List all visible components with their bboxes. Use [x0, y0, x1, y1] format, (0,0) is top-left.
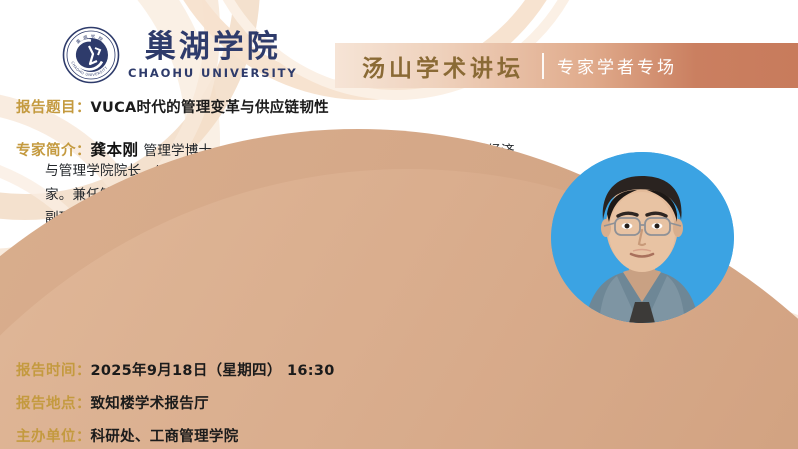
chaohu-university-seal-icon: 巢 湖 学 院 CHAOHU UNIVERSITY: [62, 26, 120, 84]
speaker-bio-first-line: 专家简介 ： 龚本刚 管理学博士，二级教授，博士生导师，现为安徽工程大学经济: [16, 138, 576, 160]
bio-line: 人才、安徽省学术和技术带头人、安徽省教学名师等。近年来，主要从事物: [45, 231, 576, 255]
banner-divider: [542, 53, 544, 79]
bio-line: 与管理学院院长、“安徽汽车产业研究院”省重点培育智库负责人、首席专: [45, 160, 576, 184]
bio-line: 管理学博士，二级教授，博士生导师，现为安徽工程大学经济: [144, 139, 515, 159]
organizer-value: 科研处、工商管理学院: [91, 425, 239, 446]
speaker-name: 龚本刚: [91, 138, 139, 160]
seminar-poster: 巢 湖 学 院 CHAOHU UNIVERSITY 巢湖学院 CHAOHU UN…: [0, 0, 798, 449]
field-organizer: 主办单位 ： 科研处、工商管理学院: [16, 425, 239, 446]
report-place-value: 致知楼学术报告厅: [91, 392, 209, 413]
banner-subtitle: 专家学者专场: [557, 53, 677, 78]
report-title-colon: ：: [76, 96, 91, 117]
field-report-title: 报告题目 ： VUCA时代的管理变革与供应链韧性: [16, 96, 329, 117]
university-wordmark: 巢湖学院 CHAOHU UNIVERSITY: [128, 30, 298, 80]
bio-line: 践》、ANOR、IJPE等国内外知名期刊上发表论文100余篇；出版学术专著 3: [45, 325, 576, 349]
university-name-en: CHAOHU UNIVERSITY: [128, 66, 298, 80]
field-report-place: 报告地点 ： 致知楼学术报告厅: [16, 392, 209, 413]
lecture-series-banner: 汤山学术讲坛 专家学者专场: [335, 43, 798, 88]
report-title-label: 报告题目: [16, 96, 76, 117]
report-time-colon: ：: [76, 359, 91, 380]
report-time-label: 报告时间: [16, 359, 76, 380]
report-title-value: VUCA时代的管理变革与供应链韧性: [91, 96, 329, 117]
banner-series-title: 汤山学术讲坛: [362, 49, 524, 83]
university-logo: 巢 湖 学 院 CHAOHU UNIVERSITY 巢湖学院 CHAOHU UN…: [62, 26, 298, 84]
speaker-bio-label: 专家简介: [16, 139, 76, 160]
bio-line: 家。兼任管理科学与工程学会理事、中国物流学会理事、安徽省管理学学会: [45, 184, 576, 208]
report-place-colon: ：: [76, 392, 91, 413]
field-speaker-bio: 专家简介 ： 龚本刚 管理学博士，二级教授，博士生导师，现为安徽工程大学经济 与…: [16, 138, 576, 372]
field-report-time: 报告时间 ： 2025年9月18日（星期四） 16:30: [16, 359, 335, 380]
university-name-cn: 巢湖学院: [145, 30, 281, 65]
bio-line: 副理事长、安徽省数字经济学会副会长。入选安徽省“江淮文化名家”领军: [45, 207, 576, 231]
speaker-portrait-photo: [551, 152, 734, 323]
poster-header: 巢 湖 学 院 CHAOHU UNIVERSITY 巢湖学院 CHAOHU UN…: [0, 0, 798, 92]
speaker-bio-colon: ：: [76, 139, 91, 160]
bio-line: 自然基金等省部级项目多项；在《管理科学学报》、《系统工程理论与实: [45, 302, 576, 326]
bio-line: 国家社科重大项目子课题1项，主持教育部人文社科基金、博士后基金和省: [45, 278, 576, 302]
organizer-colon: ：: [76, 425, 91, 446]
bio-line: 流与供应链管理、运营管理等方面研究。主持国家自然科学基金项目4项、: [45, 254, 576, 278]
report-time-value: 2025年9月18日（星期四） 16:30: [91, 359, 335, 380]
report-place-label: 报告地点: [16, 392, 76, 413]
organizer-label: 主办单位: [16, 425, 76, 446]
